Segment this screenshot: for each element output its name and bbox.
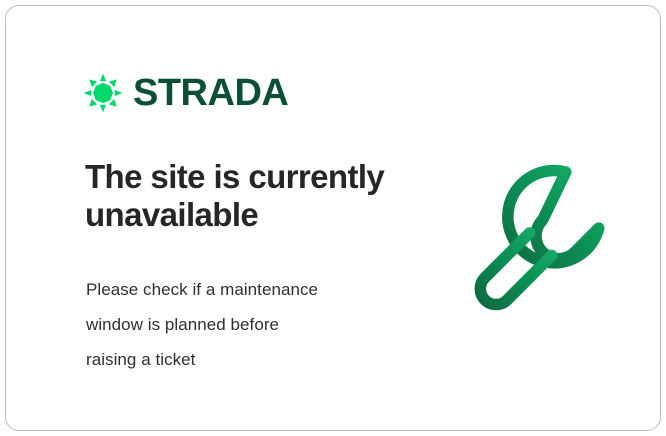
page-description: Please check if a maintenance window is …	[86, 273, 396, 378]
page-title: The site is currently unavailable	[85, 158, 425, 235]
wrench-icon	[461, 158, 626, 323]
error-page: STRADA The site is currently unavailable…	[0, 0, 666, 436]
brand-wordmark: STRADA	[133, 74, 288, 112]
description-line: window is planned before	[86, 308, 396, 343]
status-card: STRADA The site is currently unavailable…	[5, 5, 661, 431]
description-line: Please check if a maintenance	[86, 273, 396, 308]
brand-logo: STRADA	[82, 72, 288, 114]
description-line: raising a ticket	[86, 343, 396, 378]
strada-asterisk-icon	[82, 72, 124, 114]
